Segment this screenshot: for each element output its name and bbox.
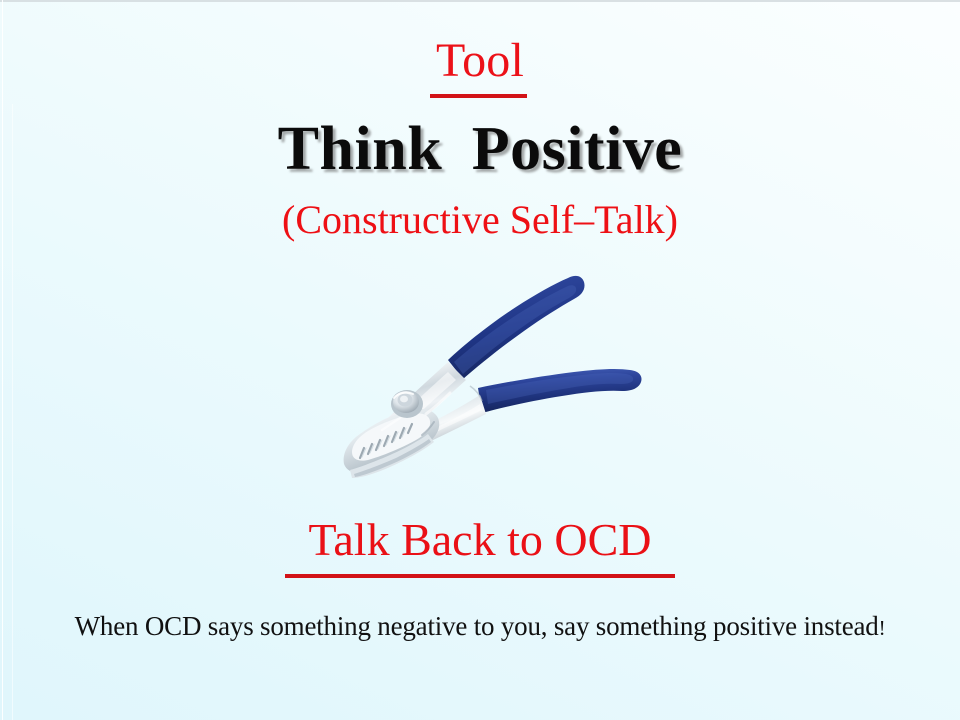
tool-heading-underline bbox=[430, 94, 527, 98]
cta-heading: Talk Back to OCD bbox=[0, 516, 960, 565]
page-title-word-think: Think bbox=[278, 115, 443, 183]
page-title-word-gap bbox=[442, 115, 472, 183]
subtitle: (Constructive Self–Talk) bbox=[0, 198, 960, 241]
slide-left-border-outer bbox=[2, 0, 3, 720]
slide-canvas: Tool Think Positive (Constructive Self–T… bbox=[0, 0, 960, 720]
page-title: Think Positive bbox=[0, 117, 960, 182]
caption-sentence: When OCD says something negative to you,… bbox=[75, 611, 879, 641]
caption-text: When OCD says something negative to you,… bbox=[30, 608, 930, 645]
pliers-illustration bbox=[330, 262, 660, 490]
slide-left-border-inner bbox=[12, 104, 13, 720]
page-title-word-positive: Positive bbox=[472, 115, 683, 183]
caption-exclamation: ! bbox=[879, 616, 886, 640]
cta-heading-underline bbox=[285, 574, 675, 578]
slide-top-border bbox=[0, 0, 960, 2]
tool-heading: Tool bbox=[0, 36, 960, 87]
